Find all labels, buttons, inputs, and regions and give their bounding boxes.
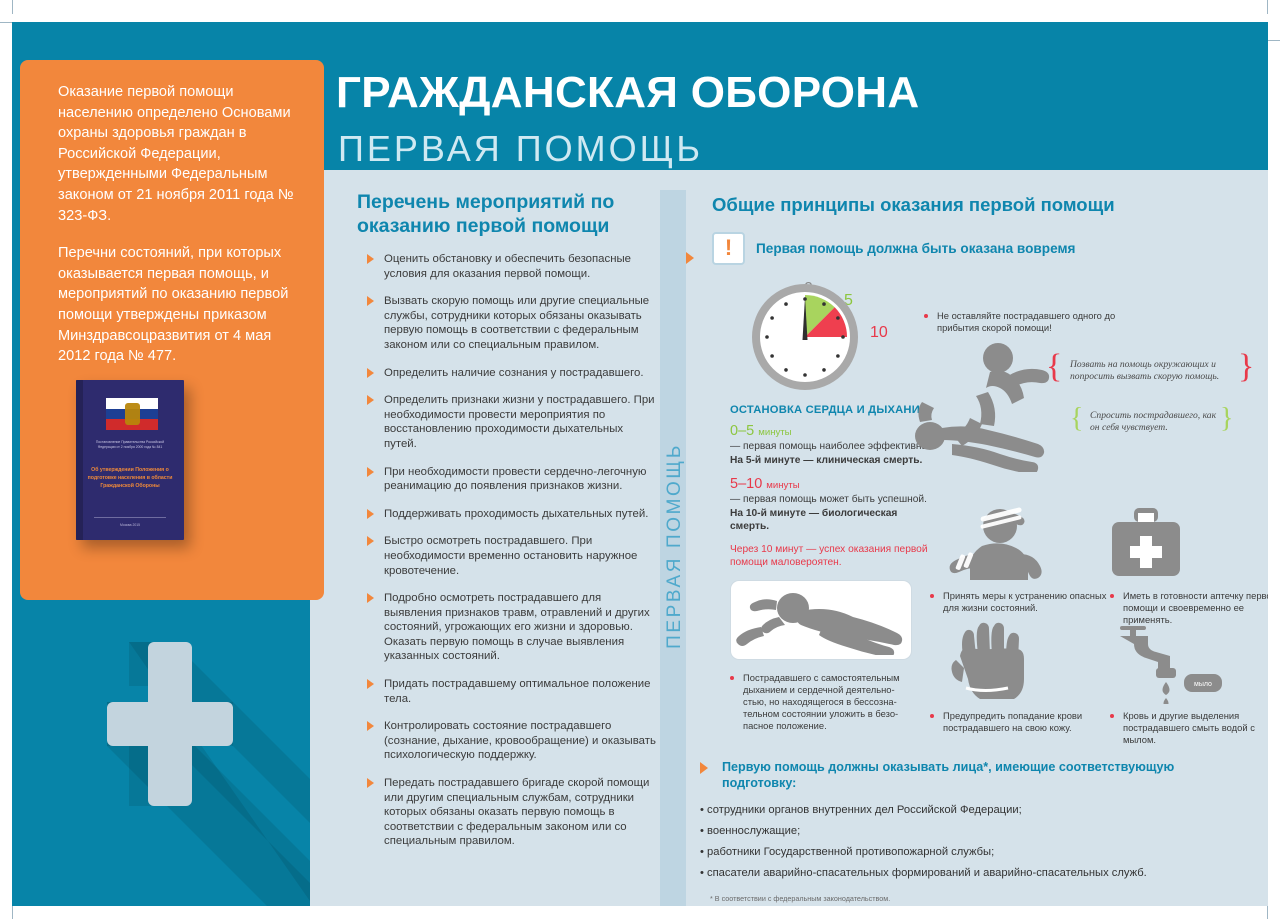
dot-bullet-icon <box>730 676 734 680</box>
list-item-text: Подробно осмотреть пострадавшего для выя… <box>384 592 650 662</box>
triangle-bullet-icon <box>367 721 374 731</box>
cardiac-range-2-num: 5–10 <box>730 476 762 492</box>
left-brace-red: { <box>1046 350 1062 384</box>
triangle-bullet-icon <box>367 536 374 546</box>
footnote: * В соответствии с федеральным законодат… <box>700 894 1200 903</box>
legal-paragraph-1: Оказание первой помощи населению определ… <box>58 82 300 226</box>
book-title: Об утверждении Положения о подготовке на… <box>86 466 174 491</box>
timeliness-subheading: Первая помощь должна быть оказана воврем… <box>756 241 1075 256</box>
triangle-bullet-icon <box>686 252 694 264</box>
cardiac-range-2-text-b: На 10-й минуте — биологическая смерть. <box>730 507 930 533</box>
qualified-persons-heading: Первую помощь должны оказывать лица*, им… <box>700 760 1200 791</box>
call-help-callout-text: Позвать на помощь окружающих и попросить… <box>1070 359 1219 382</box>
remove-danger-note-wrap: Принять меры к устранению опасных для жи… <box>930 590 1120 614</box>
dot-bullet-icon <box>1110 594 1114 598</box>
list-item: Придать пострадавшему оптимальное положе… <box>357 677 657 706</box>
triangle-bullet-icon <box>367 254 374 264</box>
dont-leave-note-wrap: Не оставляйте пострадавшего одного до пр… <box>924 310 1124 334</box>
list-item-text: Вызвать скорую помощь или другие специал… <box>384 295 649 351</box>
triangle-bullet-icon <box>367 467 374 477</box>
clock-face: 0 5 10 <box>752 284 858 390</box>
dont-leave-note-text: Не оставляйте пострадавшего одного до пр… <box>937 310 1115 333</box>
clock-label-10: 10 <box>870 324 888 342</box>
crop-mark-tl-v <box>12 0 13 14</box>
dot-bullet-icon <box>924 314 928 318</box>
list-item: Определить наличие сознания у пострадавш… <box>357 366 657 381</box>
cardiac-heading: ОСТАНОВКА СЕРДЦА И ДЫХАНИЯ <box>730 404 930 416</box>
dot-bullet-icon <box>930 594 934 598</box>
first-aid-kit-note-wrap: Иметь в готовности аптечку первой помощи… <box>1110 590 1268 626</box>
medical-cross-graphic <box>12 597 310 906</box>
list-item-text: Контролировать состояние пострадавшего (… <box>384 720 656 761</box>
call-help-callout: Позвать на помощь окружающих и попросить… <box>1070 359 1238 384</box>
first-aid-kit-note: Иметь в готовности аптечку первой помощи… <box>1110 590 1268 626</box>
side-tab-label: ПЕРВАЯ ПОМОЩЬ <box>664 201 686 891</box>
recovery-position-caption: Пострадавшего с самостоятельным дыханием… <box>730 672 910 732</box>
list-item: Вызвать скорую помощь или другие специал… <box>357 294 657 352</box>
wash-note-text: Кровь и другие выделения пострадавшего с… <box>1123 710 1255 745</box>
principles-column: Общие принципы оказания первой помощи ! … <box>712 194 1264 271</box>
ask-victim-callout: Спросить пострадавшего, как он себя чувс… <box>1090 410 1220 435</box>
cardiac-range-1-unit: минуты <box>758 427 791 438</box>
recovery-position-caption-text: Пострадавшего с самостоятельным дыханием… <box>743 672 900 731</box>
coat-of-arms-icon <box>125 403 140 425</box>
cardiac-warning: Через 10 минут — успех оказания первой п… <box>730 543 930 569</box>
triangle-bullet-icon <box>367 368 374 378</box>
dont-leave-note: Не оставляйте пострадавшего одного до пр… <box>924 310 1124 334</box>
tap-and-soap-icon: мыло <box>1106 622 1226 704</box>
injured-person-icon <box>942 504 1052 582</box>
gloves-note: Предупредить попадание крови пострадавше… <box>930 710 1120 734</box>
list-item: • военнослужащие; <box>700 821 1200 842</box>
triangle-bullet-icon <box>367 296 374 306</box>
exclamation-icon: ! <box>712 232 745 265</box>
first-aid-kit-note-text: Иметь в готовности аптечку первой помощи… <box>1123 590 1268 625</box>
list-item: • сотрудники органов внутренних дел Росс… <box>700 800 1200 821</box>
triangle-bullet-icon <box>367 593 374 603</box>
list-item-text: Определить признаки жизни у пострадавшег… <box>384 394 655 450</box>
list-item-text: Придать пострадавшему оптимальное положе… <box>384 678 650 705</box>
triangle-bullet-icon <box>367 395 374 405</box>
first-aid-kit-icon <box>1110 506 1182 580</box>
dot-bullet-icon <box>1110 714 1114 718</box>
clock-block: 0 5 10 <box>730 284 930 569</box>
cross-icon <box>107 642 233 806</box>
qualified-persons-list: • сотрудники органов внутренних дел Росс… <box>700 800 1200 884</box>
cardiac-range-1-text-b: На 5-й минуте — клиническая смерть. <box>730 454 930 467</box>
gloves-note-wrap: Предупредить попадание крови пострадавше… <box>930 710 1120 734</box>
list-item: При необходимости провести сердечно-лего… <box>357 465 657 494</box>
list-item-text: Быстро осмотреть пострадавшего. При необ… <box>384 535 637 576</box>
cardiac-range-1-text-a: — первая помощь наиболее эффективна. <box>730 440 930 453</box>
remove-danger-note: Принять меры к устранению опасных для жи… <box>930 590 1120 614</box>
principles-heading: Общие принципы оказания первой помощи <box>712 194 1264 216</box>
list-item-text: Оценить обстановку и обеспечить безопасн… <box>384 253 631 280</box>
soap-label: мыло <box>1194 681 1212 688</box>
book-footer: Москва 2015 <box>94 523 166 528</box>
page-title: ГРАЖДАНСКАЯ ОБОРОНА <box>336 68 919 118</box>
dot-bullet-icon <box>930 714 934 718</box>
list-item: Оценить обстановку и обеспечить безопасн… <box>357 252 657 281</box>
triangle-bullet-icon <box>367 778 374 788</box>
cardiac-range-2: 5–10 минуты <box>730 476 930 492</box>
remove-danger-note-text: Принять меры к устранению опасных для жи… <box>943 590 1106 613</box>
left-brace-green: { <box>1070 402 1083 436</box>
list-item-text: Определить наличие сознания у пострадавш… <box>384 367 644 379</box>
book-spine <box>76 380 83 540</box>
right-brace-red: } <box>1238 350 1254 384</box>
triangle-bullet-icon <box>700 762 708 774</box>
list-item: Передать пострадавшего бригаде скорой по… <box>357 776 657 849</box>
cardiac-range-1-num: 0–5 <box>730 423 754 439</box>
page-subtitle: ПЕРВАЯ ПОМОЩЬ <box>338 128 703 170</box>
list-item: Быстро осмотреть пострадавшего. При необ… <box>357 534 657 578</box>
qualified-persons-heading-text: Первую помощь должны оказывать лица*, им… <box>722 760 1174 790</box>
glove-icon <box>950 622 1030 704</box>
crop-mark-tr-h <box>1266 40 1280 41</box>
measures-heading: Перечень мероприятий по оказанию первой … <box>357 190 657 238</box>
regulation-book-cover: Постановление Правительства Российской Ф… <box>76 380 184 540</box>
gloves-note-text: Предупредить попадание крови пострадавше… <box>943 710 1082 733</box>
cardiac-range-2-unit: минуты <box>766 480 799 491</box>
list-item-text: При необходимости провести сердечно-лего… <box>384 466 646 493</box>
poster-page: ГРАЖДАНСКАЯ ОБОРОНА ПЕРВАЯ ПОМОЩЬ Оказан… <box>0 0 1280 919</box>
list-item: • работники Государственной противопожар… <box>700 842 1200 863</box>
russian-flag-icon <box>106 398 158 430</box>
poster-plate: ГРАЖДАНСКАЯ ОБОРОНА ПЕРВАЯ ПОМОЩЬ Оказан… <box>12 22 1268 906</box>
wash-note: Кровь и другие выделения пострадавшего с… <box>1110 710 1268 746</box>
recovery-position-caption-wrap: Пострадавшего с самостоятельным дыханием… <box>730 672 910 732</box>
ask-victim-callout-text: Спросить пострадавшего, как он себя чувс… <box>1090 410 1216 433</box>
triangle-bullet-icon <box>367 679 374 689</box>
right-brace-green: } <box>1220 402 1233 436</box>
measures-column: Перечень мероприятий по оказанию первой … <box>357 190 657 862</box>
list-item: • спасатели аварийно-спасательных формир… <box>700 863 1200 884</box>
side-tab: ПЕРВАЯ ПОМОЩЬ <box>660 190 686 906</box>
list-item: Подробно осмотреть пострадавшего для выя… <box>357 591 657 664</box>
list-item-text: Поддерживать проходимость дыхательных пу… <box>384 508 648 520</box>
list-item: Контролировать состояние пострадавшего (… <box>357 719 657 763</box>
crop-mark-tr-v <box>1267 0 1268 14</box>
cardiac-range-1: 0–5 минуты <box>730 423 930 439</box>
cardiac-range-2-text-a: — первая помощь может быть успешной. <box>730 493 930 506</box>
legal-paragraph-2: Перечни состояний, при которых оказывает… <box>58 243 300 367</box>
book-overline: Постановление Правительства Российской Ф… <box>90 440 170 450</box>
list-item: Определить признаки жизни у пострадавшег… <box>357 393 657 451</box>
book-divider <box>94 517 166 518</box>
qualified-persons-block: Первую помощь должны оказывать лица*, им… <box>700 760 1200 903</box>
list-item: Поддерживать проходимость дыхательных пу… <box>357 507 657 522</box>
wash-note-wrap: Кровь и другие выделения пострадавшего с… <box>1110 710 1268 746</box>
triangle-bullet-icon <box>367 509 374 519</box>
recovery-position-icon <box>731 581 907 655</box>
timeliness-subheading-row: ! Первая помощь должна быть оказана вовр… <box>712 232 1264 265</box>
list-item-text: Передать пострадавшего бригаде скорой по… <box>384 777 649 847</box>
clock-hand <box>752 284 858 390</box>
measures-list: Оценить обстановку и обеспечить безопасн… <box>357 252 657 849</box>
recovery-position-box <box>730 580 912 660</box>
